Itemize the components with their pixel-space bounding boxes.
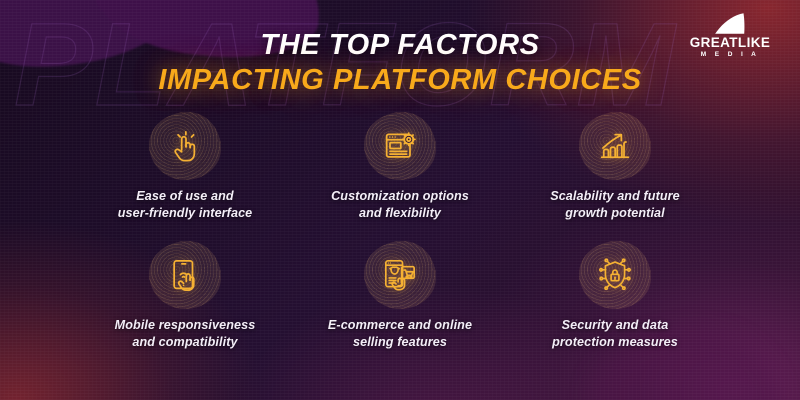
factor-label: Scalability and future growth potential xyxy=(508,188,723,221)
mobile-touch-responsive-icon xyxy=(149,241,221,309)
factor-card-customization: Customization options and flexibility xyxy=(293,112,508,221)
bar-chart-growth-arrow-icon xyxy=(579,112,651,180)
factor-card-ease-of-use: Ease of use and user-friendly interface xyxy=(78,112,293,221)
factor-label: E-commerce and online selling features xyxy=(293,317,508,350)
brand-logo: GREATLIKE M E D I A xyxy=(678,12,782,58)
title-line-2: IMPACTING PLATFORM CHOICES xyxy=(0,65,800,95)
factor-card-security: Security and data protection measures xyxy=(508,241,723,350)
factor-card-mobile-responsiveness: Mobile responsiveness and compatibility xyxy=(78,241,293,350)
brand-subtitle: M E D I A xyxy=(678,52,782,59)
brand-name: GREATLIKE xyxy=(678,36,782,50)
factor-label: Customization options and flexibility xyxy=(293,188,508,221)
factor-label: Ease of use and user-friendly interface xyxy=(78,188,293,221)
factors-grid: Ease of use and user-friendly interface xyxy=(0,112,800,350)
window-gear-customization-icon xyxy=(364,112,436,180)
shark-fin-icon xyxy=(678,12,782,35)
factor-label: Mobile responsiveness and compatibility xyxy=(78,317,293,350)
factors-row-2: Mobile responsiveness and compatibility xyxy=(0,241,800,350)
factor-card-scalability: Scalability and future growth potential xyxy=(508,112,723,221)
factor-card-ecommerce: E-commerce and online selling features xyxy=(293,241,508,350)
mobile-shopping-cart-icon xyxy=(364,241,436,309)
infographic-poster: PLATFORM GREATLIKE M E D I A THE TOP FAC… xyxy=(0,0,800,400)
factors-row-1: Ease of use and user-friendly interface xyxy=(0,112,800,221)
hand-tap-gesture-icon xyxy=(149,112,221,180)
factor-label: Security and data protection measures xyxy=(508,317,723,350)
shield-lock-security-icon xyxy=(579,241,651,309)
